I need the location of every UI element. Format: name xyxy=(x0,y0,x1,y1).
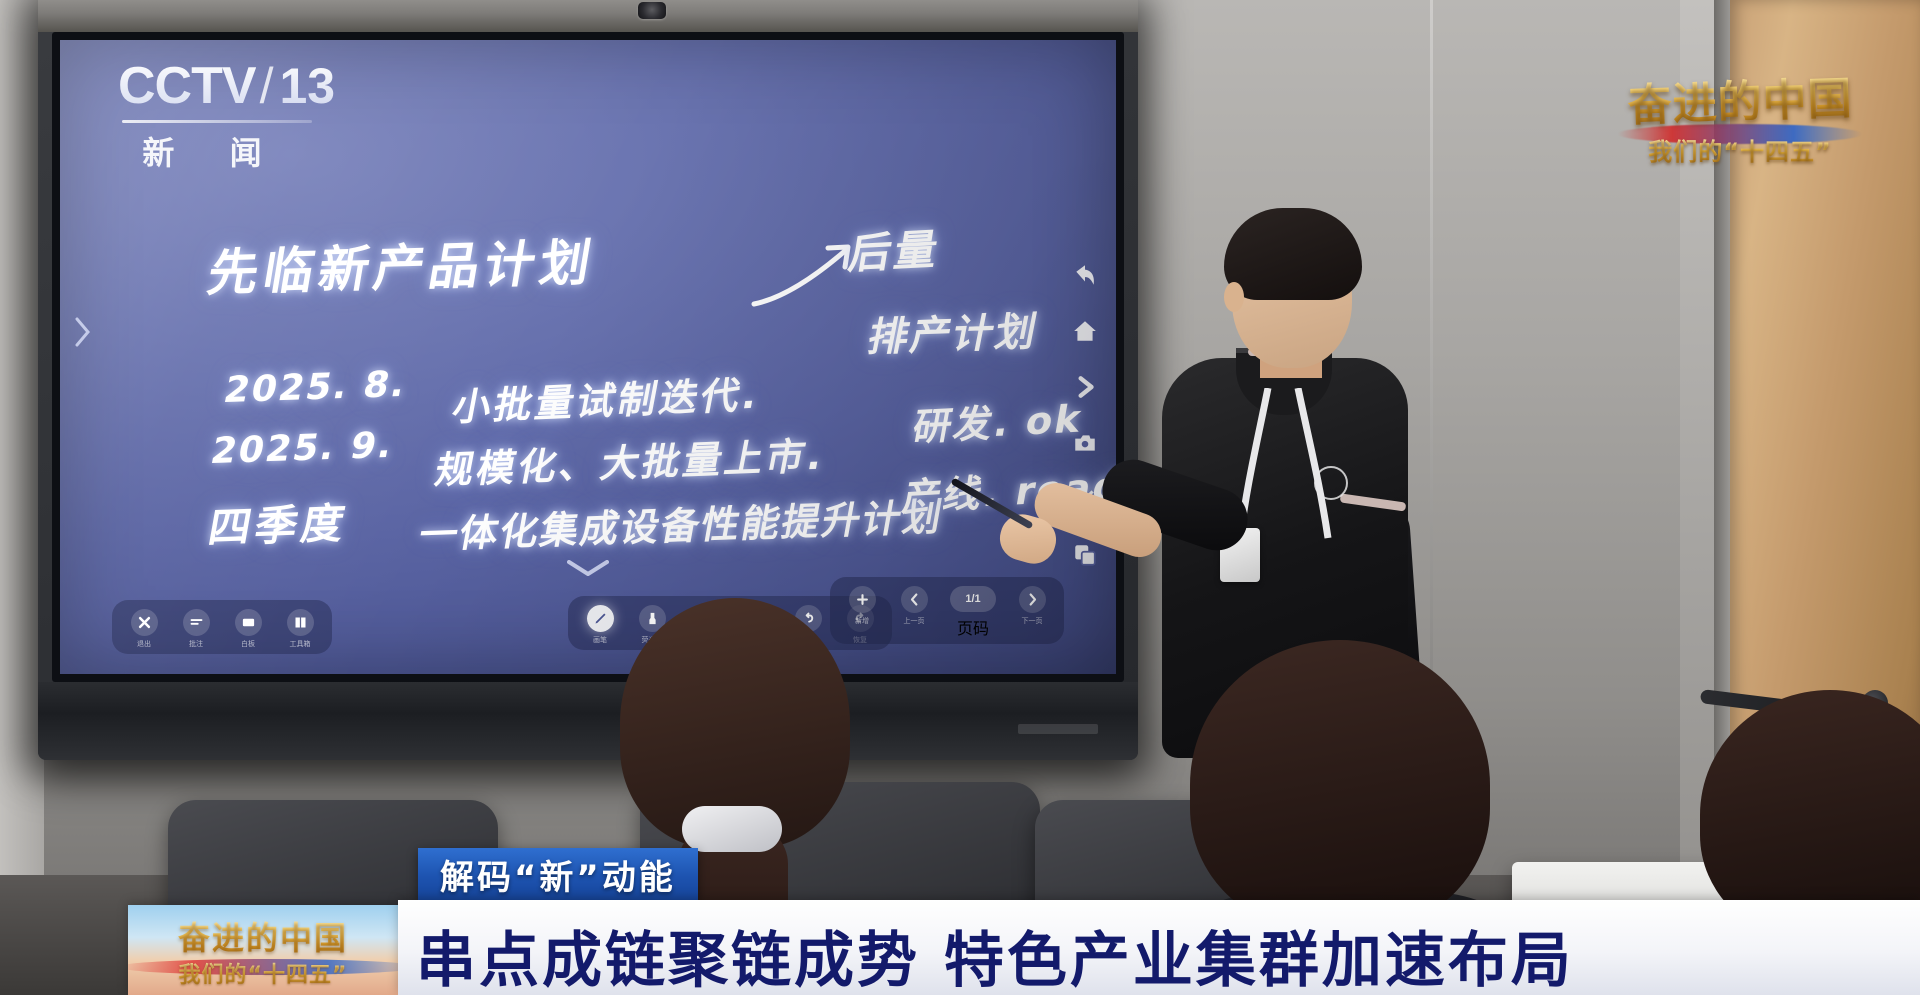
camera-icon xyxy=(638,2,666,19)
toolbar-button-exit[interactable]: 退出 xyxy=(125,609,163,649)
handwriting-item-3: 一体化集成设备性能提升计划 xyxy=(415,486,948,559)
display-bottom-bezel xyxy=(38,682,1138,760)
chyron-kicker: 解码“新”动能 xyxy=(418,848,698,900)
chevron-right-icon[interactable] xyxy=(1072,374,1098,400)
copy-icon[interactable] xyxy=(1072,542,1098,568)
whiteboard-screen[interactable]: CCTV / 13 新 闻 先临新产品计划 2025. 8. 2025. 9. … xyxy=(60,40,1116,674)
handwriting-item-2: 规模化、大批量上市. xyxy=(431,425,831,495)
handwriting-date-3: 四季度 xyxy=(204,490,354,556)
handwriting-annotation-2: 排产计划 xyxy=(864,299,1045,363)
interactive-display[interactable]: CCTV / 13 新 闻 先临新产品计划 2025. 8. 2025. 9. … xyxy=(38,0,1138,760)
cctv-slash: / xyxy=(260,57,274,115)
chevron-left-icon xyxy=(901,586,928,613)
pen-icon xyxy=(587,605,614,632)
handwriting-date-2: 2025. 9. xyxy=(207,425,398,472)
tool-pen[interactable]: 画笔 xyxy=(581,605,619,645)
page-prev-button[interactable]: 上一页 xyxy=(895,586,933,626)
handwriting-item-1: 小批量试制迭代. xyxy=(448,364,765,432)
program-watermark: 奋进的中国 我们的“十四五” xyxy=(1614,66,1866,170)
toolbar-button-label: 白板 xyxy=(241,639,255,649)
watermark-subtitle: 我们的“十四五” xyxy=(1614,132,1866,167)
apps-icon xyxy=(287,609,314,636)
audience-scrunchie xyxy=(682,806,782,852)
toolbar-button-annotate[interactable]: 批注 xyxy=(177,609,215,649)
camera-icon[interactable] xyxy=(1072,430,1098,456)
page-indicator-value: 1/1 xyxy=(950,586,996,612)
back-arrow-icon[interactable] xyxy=(1072,262,1098,288)
toolbar-button-label: 工具箱 xyxy=(290,639,311,649)
screenshot-stage: CCTV / 13 新 闻 先临新产品计划 2025. 8. 2025. 9. … xyxy=(0,0,1920,995)
cctv-underline xyxy=(122,120,312,123)
chevron-right-icon xyxy=(1019,586,1046,613)
handwriting-title: 先临新产品计划 xyxy=(203,223,602,306)
cctv-logo: CCTV / 13 新 闻 xyxy=(118,56,335,174)
chyron-kicker-text: 解码“新”动能 xyxy=(440,850,676,899)
watermark-title: 奋进的中国 xyxy=(1613,62,1867,135)
page-next-button[interactable]: 下一页 xyxy=(1013,586,1051,626)
toolbar-button-label: 批注 xyxy=(189,639,203,649)
cctv-channel-number: 13 xyxy=(279,57,335,115)
toolbar-button-whiteboard[interactable]: 白板 xyxy=(229,609,267,649)
handwriting-annotation-1: 后量 xyxy=(845,216,946,282)
handwriting-annotation-3: 研发. ok xyxy=(909,388,1088,452)
close-icon xyxy=(131,609,158,636)
toolbar-button-toolbox[interactable]: 工具箱 xyxy=(281,609,319,649)
home-icon[interactable] xyxy=(1072,318,1098,344)
presenter-ear xyxy=(1224,282,1244,312)
panel-expand-handle-icon[interactable] xyxy=(70,315,94,349)
page-button-label: 下一页 xyxy=(1022,616,1043,626)
chyron-headline-text: 串点成链聚链成势 特色产业集群加速布局 xyxy=(398,900,1920,995)
page-button-label: 上一页 xyxy=(904,616,925,626)
board-icon xyxy=(235,609,262,636)
cctv-channel-sub: 新 闻 xyxy=(118,128,308,174)
handwriting-date-1: 2025. 8. xyxy=(220,364,411,411)
tool-label: 画笔 xyxy=(593,635,607,645)
toolbar-left-cluster[interactable]: 退出 批注 白板 工具 xyxy=(112,600,332,654)
page-indicator-label: 页码 xyxy=(957,615,989,639)
handwritten-arrow-icon xyxy=(750,240,860,310)
badge-title: 奋进的中国 xyxy=(128,913,398,959)
display-brand xyxy=(1018,724,1098,734)
chyron-program-badge: 奋进的中国 我们的“十四五” xyxy=(128,905,398,995)
toolbar-button-label: 退出 xyxy=(137,639,151,649)
display-top-bezel xyxy=(38,0,1138,32)
chyron-headline-bar: 串点成链聚链成势 特色产业集群加速布局 xyxy=(398,900,1920,995)
audience-hair xyxy=(1190,640,1490,930)
page-indicator[interactable]: 1/1 页码 xyxy=(947,586,999,639)
badge-subtitle: 我们的“十四五” xyxy=(128,957,398,989)
presenter-hair xyxy=(1224,208,1362,300)
collapse-toolbar-chevron-down-icon[interactable] xyxy=(565,558,611,578)
list-icon xyxy=(183,609,210,636)
cctv-wordmark: CCTV xyxy=(118,56,256,116)
